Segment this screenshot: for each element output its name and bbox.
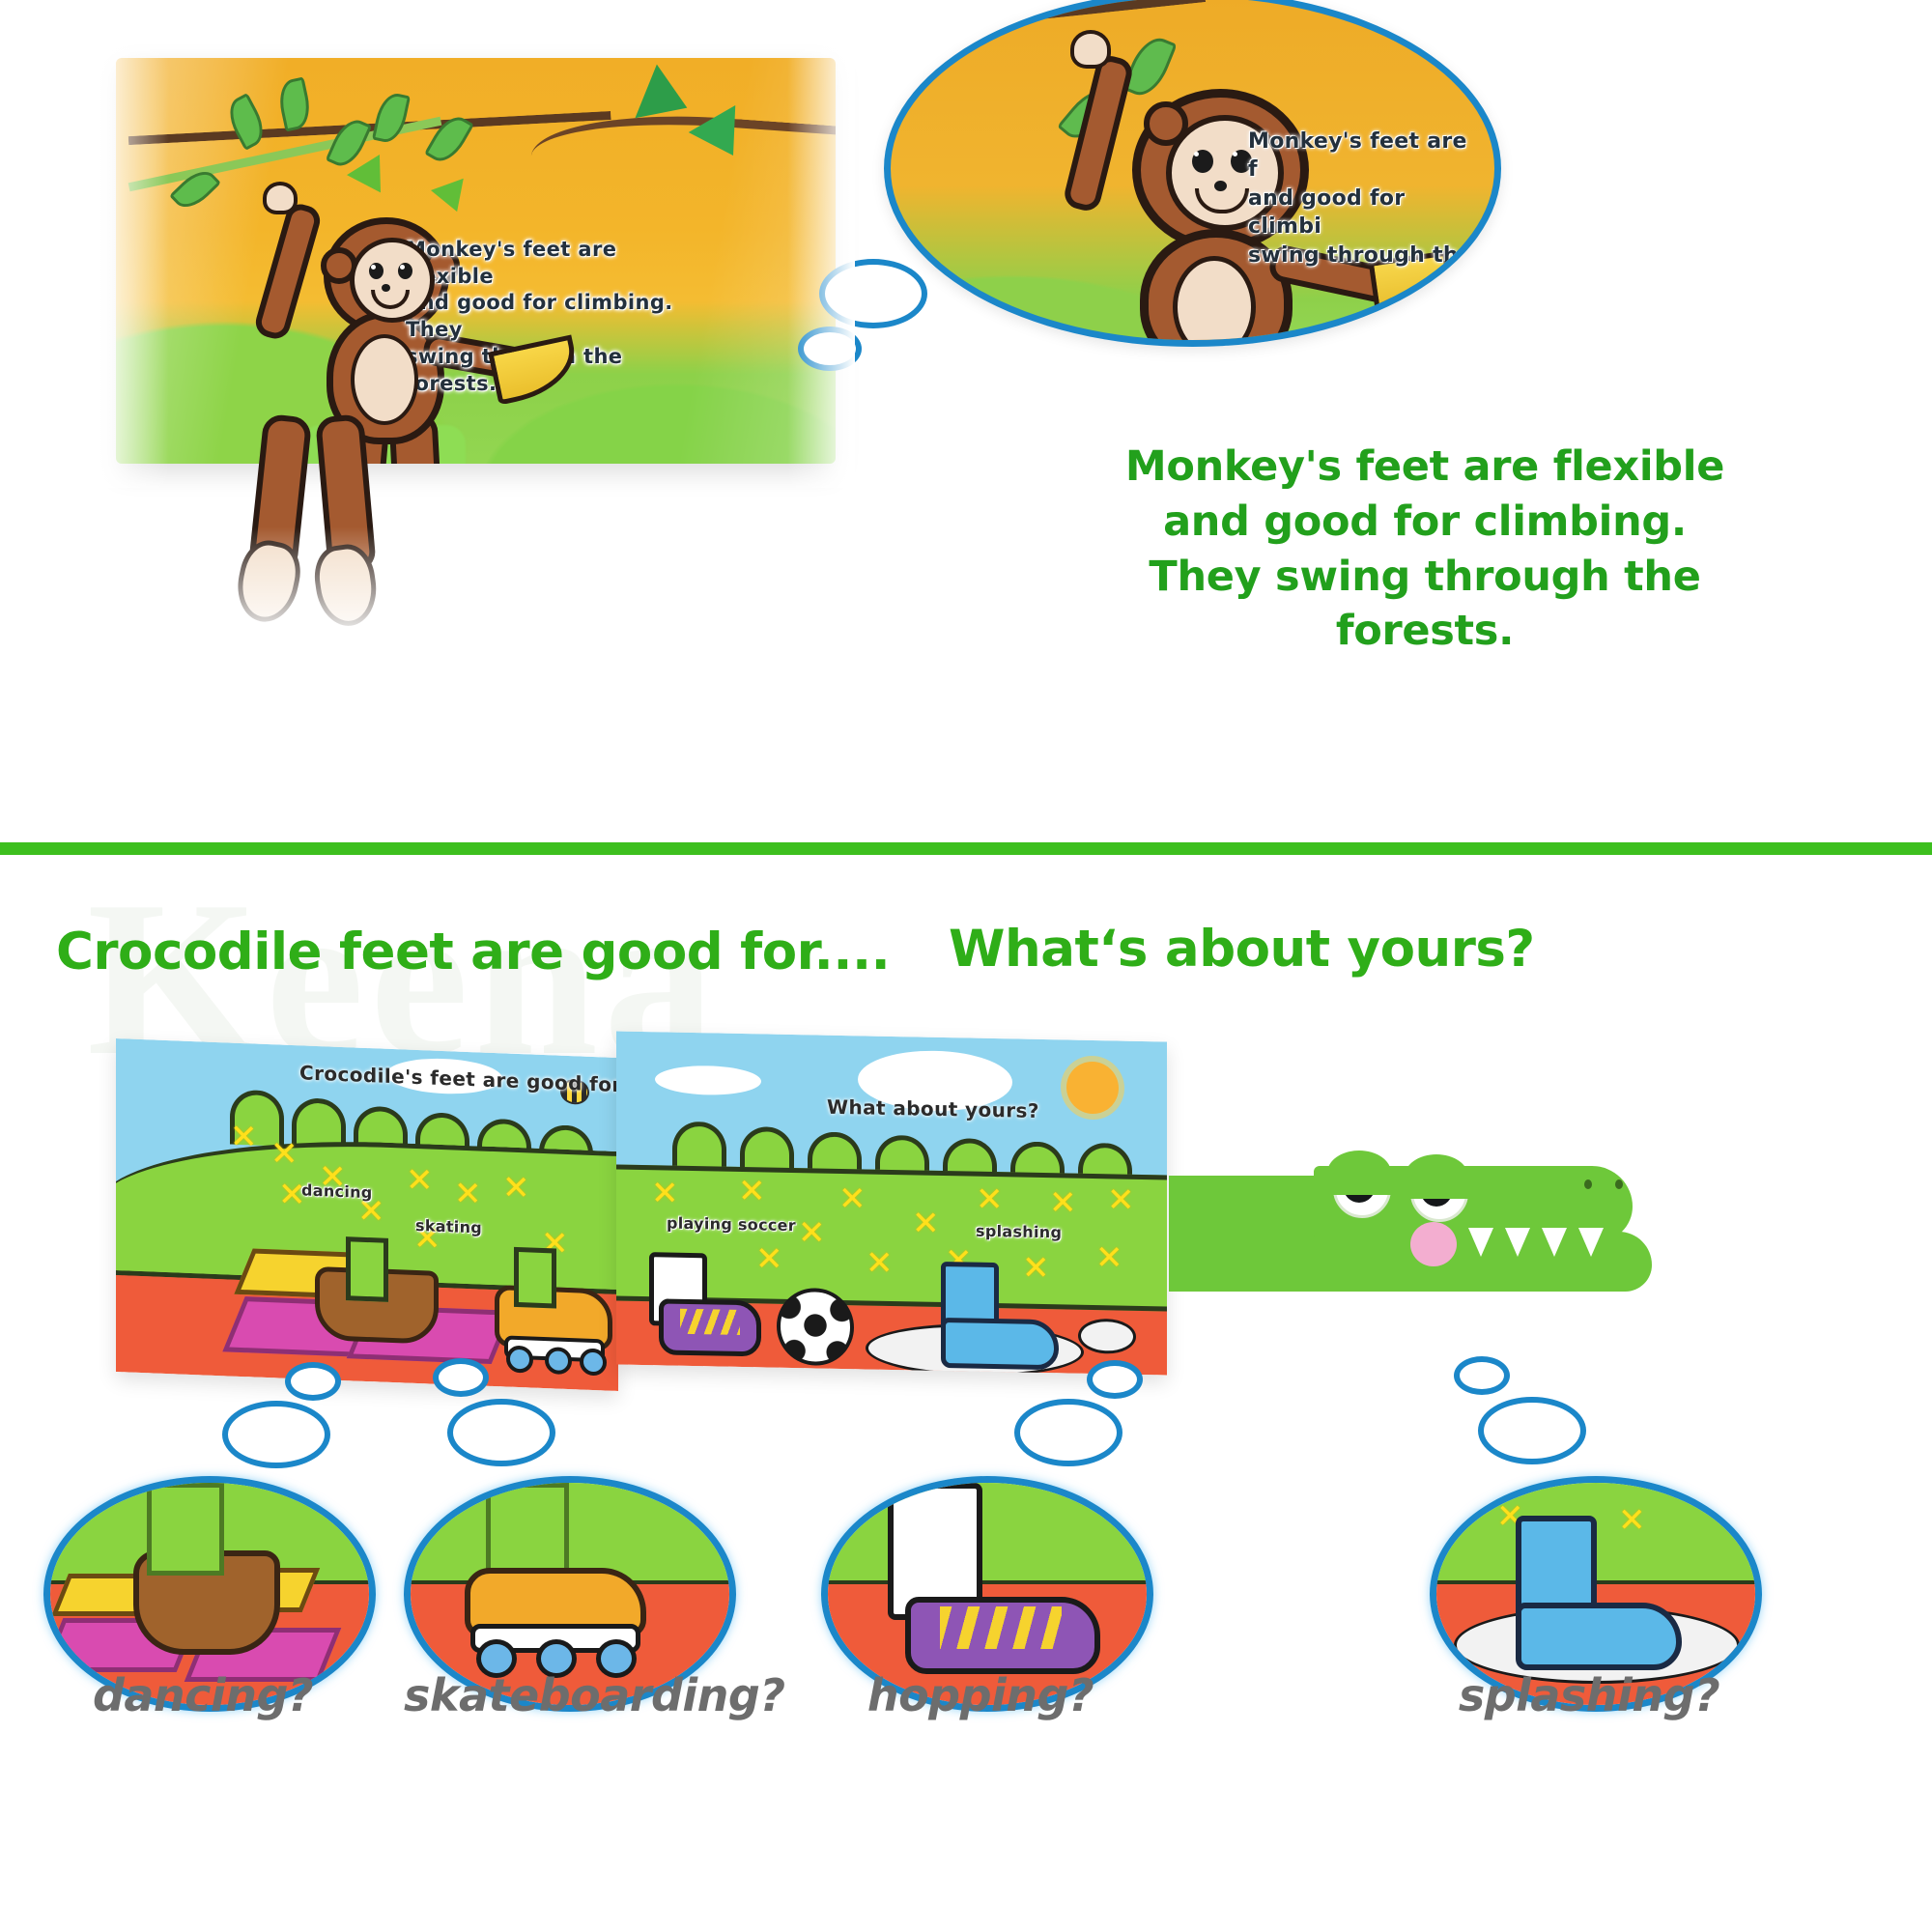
book-right-title: What about yours?: [827, 1095, 1039, 1122]
water-splash: [1078, 1319, 1136, 1354]
thought-bubble-small: [285, 1362, 341, 1401]
croc-leg: [514, 1247, 556, 1309]
book-right-page: What about yours? ✕ ✕ ✕ ✕ ✕ ✕ ✕ ✕ ✕ ✕ ✕ …: [616, 1032, 1167, 1376]
thought-bubble-large: [1478, 1397, 1586, 1464]
x-mark: ✕: [270, 1137, 298, 1171]
croc-nostril: [1584, 1179, 1592, 1189]
book-left-page: ✕ ✕ ✕ ✕ ✕ ✕ ✕ ✕ ✕ ✕ dancing skating Croc…: [116, 1038, 618, 1391]
thought-bubble-large: [222, 1401, 330, 1468]
photo-fade-bottom: [92, 526, 855, 642]
monkey-zoom-ellipse: Monkey's feet are f and good for climbi …: [884, 0, 1501, 347]
x-mark: ✕: [976, 1183, 1004, 1217]
croc-tooth: [1578, 1228, 1604, 1257]
label-splashing: splashing?: [1430, 1669, 1748, 1721]
croc-eyelid-right: [1405, 1154, 1468, 1199]
heading-whats-about-yours: What‘s about yours?: [949, 920, 1535, 979]
monkey-book-page: Monkey's feet are flexible and good for …: [116, 58, 836, 464]
label-skateboarding: skateboarding?: [404, 1669, 723, 1721]
x-mark: ✕: [738, 1175, 766, 1208]
x-mark: ✕: [866, 1246, 894, 1280]
crocodile-book-photo: ✕ ✕ ✕ ✕ ✕ ✕ ✕ ✕ ✕ ✕ dancing skating Croc…: [58, 1019, 1874, 1425]
x-mark: ✕: [406, 1164, 434, 1198]
x-mark: ✕: [651, 1177, 679, 1210]
x-mark: ✕: [755, 1242, 783, 1276]
skate-wheel: [506, 1346, 533, 1374]
book-label-dancing: dancing: [301, 1180, 373, 1202]
photo-fade-left: [92, 43, 169, 488]
leaf-icon: [275, 76, 314, 131]
x-mark: ✕: [1049, 1186, 1077, 1220]
monkey-hand-left: [1070, 30, 1111, 69]
rain-boot-foot: [1516, 1603, 1682, 1670]
x-mark: ✕: [1618, 1504, 1646, 1537]
croc-leg: [346, 1236, 388, 1302]
croc-nostril: [1615, 1179, 1623, 1189]
x-mark: ✕: [1022, 1252, 1050, 1286]
x-mark: ✕: [1095, 1241, 1123, 1275]
croc-tooth: [1542, 1228, 1567, 1257]
grass-band: [828, 1483, 1147, 1580]
croc-leg: [147, 1483, 224, 1576]
x-mark: ✕: [454, 1177, 482, 1210]
grass-band: [411, 1483, 729, 1580]
zoom-ellipse-caption: Monkey's feet are f and good for climbi …: [1248, 128, 1480, 270]
monkey-face: [350, 238, 435, 323]
thought-bubble-large: [447, 1399, 555, 1466]
book-label-splashing: splashing: [976, 1222, 1062, 1242]
monkey-eye: [1192, 150, 1213, 173]
section-divider: [0, 842, 1932, 855]
monkey-green-caption: Monkey's feet are flexible and good for …: [1116, 440, 1734, 659]
book-label-playing-soccer: playing soccer: [667, 1214, 796, 1236]
book-label-skating: skating: [415, 1216, 482, 1237]
x-mark: ✕: [912, 1207, 940, 1240]
monkey-eye: [398, 263, 412, 279]
heading-crocodile-feet: Crocodile feet are good for....: [56, 923, 890, 981]
thought-bubble-large: [1014, 1399, 1122, 1466]
monkey-hand-left: [263, 182, 298, 214]
thought-bubble-small: [1087, 1360, 1143, 1399]
skate-wheel: [545, 1347, 572, 1375]
thought-bubble-small: [433, 1358, 489, 1397]
soccer-ball-icon: [777, 1288, 854, 1367]
croc-tooth: [1505, 1228, 1530, 1257]
croc-eyelid-left: [1327, 1151, 1391, 1195]
x-mark: ✕: [502, 1171, 530, 1205]
monkey-eye: [369, 263, 384, 279]
x-mark: ✕: [798, 1216, 826, 1250]
sun-icon: [1066, 1061, 1119, 1114]
monkey-belly: [351, 334, 418, 425]
monkey-product-photo: Monkey's feet are flexible and good for …: [92, 24, 855, 642]
top-section: Monkey's feet are flexible and good for …: [0, 0, 1932, 850]
skate-wheel: [580, 1348, 607, 1376]
thought-bubble-small: [1454, 1356, 1510, 1395]
x-mark: ✕: [230, 1121, 258, 1154]
cleat-stripes: [940, 1606, 1062, 1649]
croc-tooth: [1468, 1228, 1493, 1257]
rain-boot-foot: [941, 1318, 1059, 1370]
cleat-stripes: [680, 1309, 740, 1335]
page-root: Keena: [0, 0, 1932, 1932]
photo-fade-right: [787, 43, 855, 488]
label-hopping: hopping?: [821, 1669, 1140, 1721]
crocodile-plush-head: [1169, 1154, 1681, 1314]
croc-cheek-blush: [1410, 1222, 1457, 1266]
label-dancing: dancing?: [43, 1669, 362, 1721]
x-mark: ✕: [1107, 1183, 1135, 1217]
x-mark: ✕: [838, 1182, 867, 1216]
